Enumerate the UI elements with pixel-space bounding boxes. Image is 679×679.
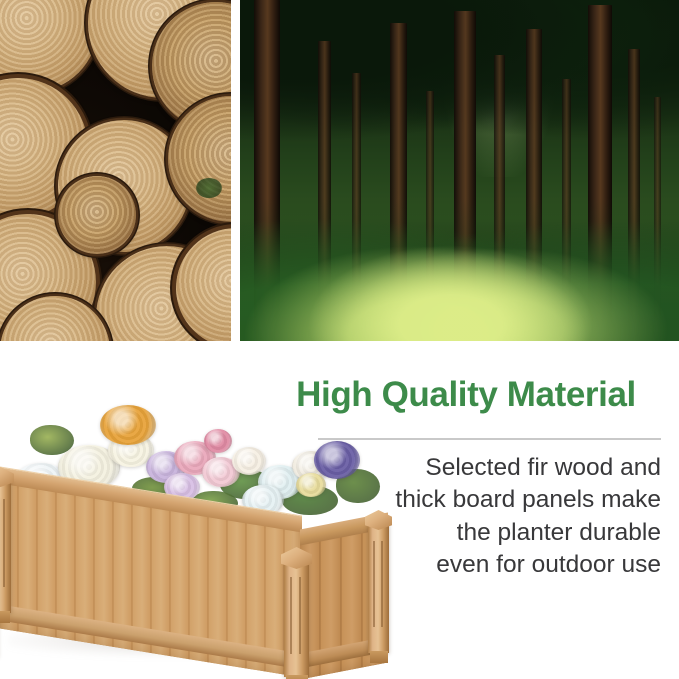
moss-patch	[196, 178, 222, 198]
stacked-logs-photo	[0, 0, 231, 341]
flower-bloom	[100, 405, 156, 445]
post-groove	[3, 499, 5, 586]
flower-bloom	[204, 429, 232, 453]
photo-collage-row	[0, 0, 679, 341]
fir-forest-photo	[240, 0, 679, 341]
post-groove	[299, 577, 301, 654]
marketing-infographic: High Quality Material Selected fir wood …	[0, 0, 679, 679]
planter-foot-front	[286, 675, 308, 679]
planter-foot-right	[370, 651, 388, 663]
flower-bloom	[314, 441, 360, 479]
wooden-planter-box-photo	[0, 415, 430, 679]
log-end	[58, 176, 136, 254]
planter-box	[0, 477, 406, 659]
post-groove	[290, 577, 292, 654]
corner-post-left-far	[0, 481, 11, 613]
flower-bloom	[232, 447, 266, 475]
post-groove	[373, 541, 375, 627]
planter-foot-left	[0, 611, 10, 623]
page-title: High Quality Material	[268, 377, 664, 414]
corner-post-front	[284, 561, 309, 677]
corner-post-right-rear	[368, 523, 389, 653]
fern-undergrowth	[240, 198, 679, 341]
post-groove	[381, 541, 383, 627]
